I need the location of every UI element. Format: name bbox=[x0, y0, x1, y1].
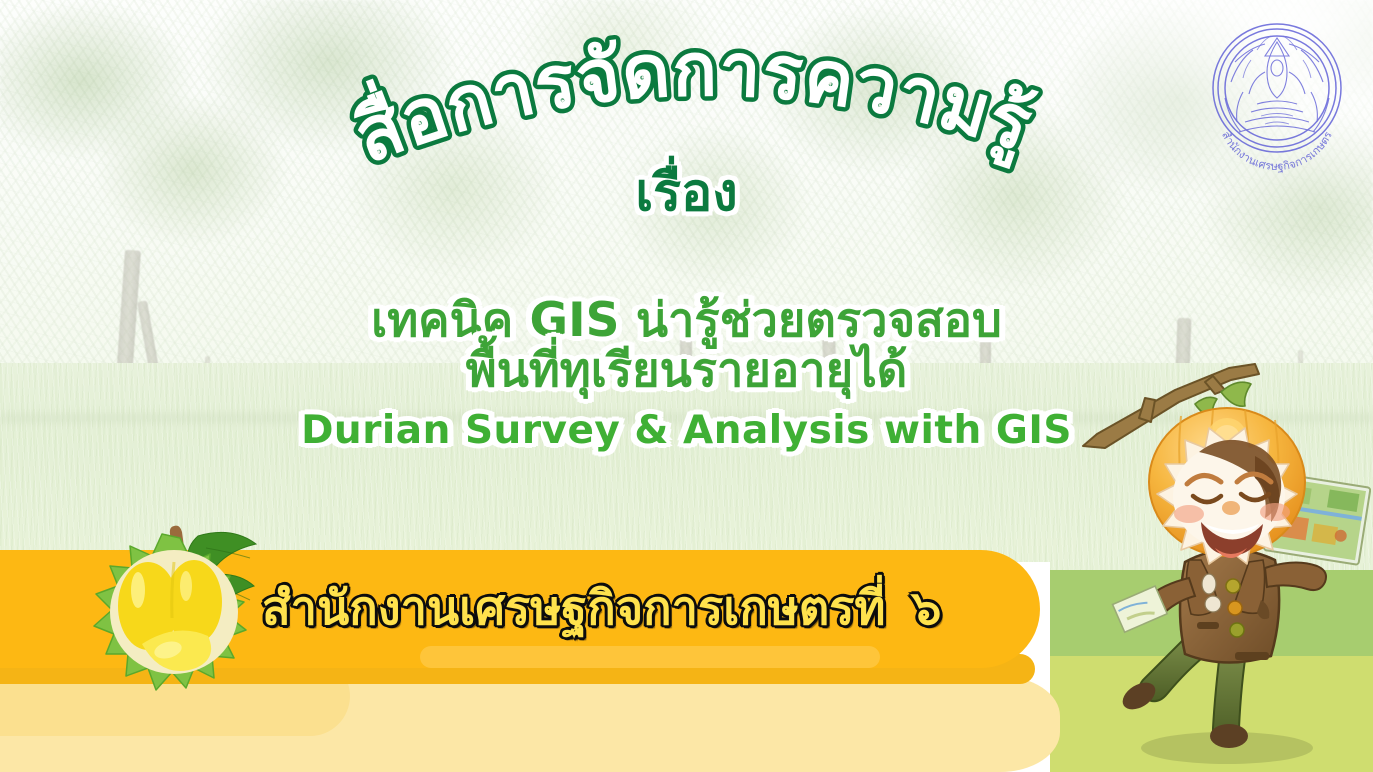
office-number: ๖ bbox=[912, 585, 942, 632]
subject-label: เรื่อง bbox=[635, 163, 737, 223]
footer-banner-text: สำนักงานเศรษฐกิจการเกษตรที่ ๖ bbox=[262, 562, 1022, 654]
durian-mascot bbox=[1109, 372, 1371, 772]
subject-label-wrap: เรื่อง bbox=[0, 150, 1373, 233]
organization-name: สำนักงานเศรษฐกิจการเกษตรที่ bbox=[262, 585, 886, 632]
title-slide: สำนักงานเศรษฐกิจการเกษตร สื่อการจัดการคว… bbox=[0, 0, 1373, 772]
title-line-1: เทคนิค GIS น่ารู้ช่วยตรวจสอบ bbox=[0, 296, 1373, 346]
durian-fruit-icon bbox=[82, 522, 278, 702]
